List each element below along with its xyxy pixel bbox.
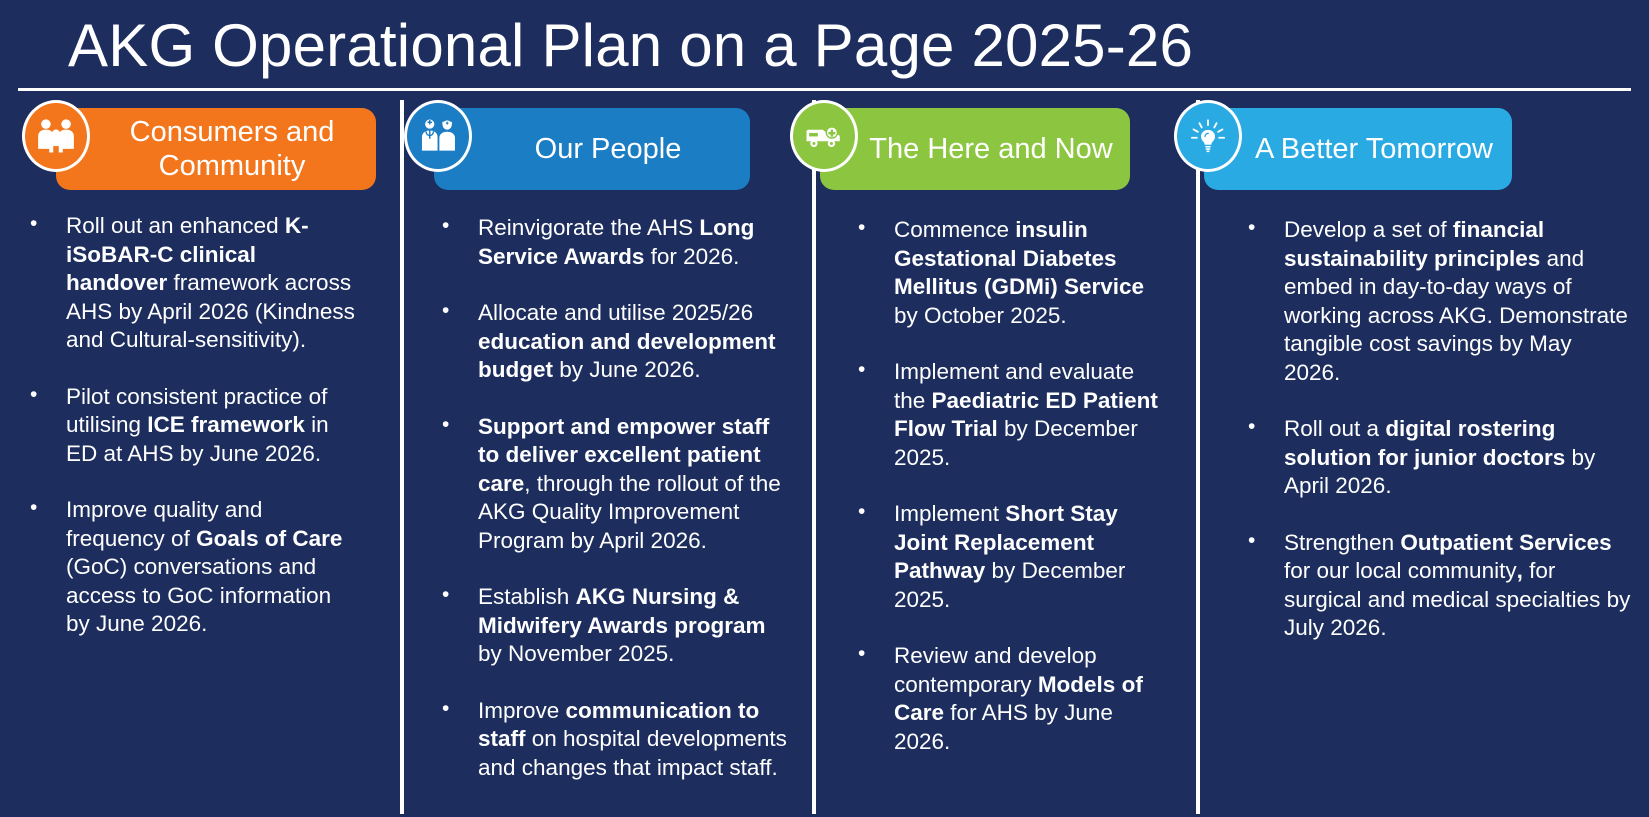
- list-item: Reinvigorate the AHS Long Service Awards…: [420, 214, 788, 271]
- column-a-better-tomorrow: A Better Tomorrow: [1204, 100, 1644, 817]
- pill-row: Our People: [408, 100, 808, 198]
- pill-label: The Here and Now: [869, 132, 1112, 166]
- title-divider: [18, 88, 1631, 91]
- column-our-people: Our People Reinvigorate the AHS: [408, 100, 808, 817]
- pill-row: Consumers and Community: [8, 100, 398, 198]
- bullet-list-consumers-and-community: Roll out an enhanced K-iSoBAR-C clinical…: [8, 212, 398, 639]
- pill-consumers-and-community[interactable]: Consumers and Community: [56, 108, 376, 190]
- column-divider-1: [400, 100, 404, 814]
- list-item: Review and develop contemporary Models o…: [836, 642, 1168, 756]
- family-group-icon: [22, 100, 90, 172]
- pill-label: Consumers and Community: [102, 115, 362, 183]
- pill-row: A Better Tomorrow: [1204, 100, 1644, 198]
- column-divider-2: [812, 100, 816, 814]
- pill-row: The Here and Now: [820, 100, 1196, 198]
- list-item: Improve communication to staff on hospit…: [420, 697, 788, 783]
- page-header: AKG Operational Plan on a Page 2025-26: [0, 0, 1649, 96]
- list-item: Support and empower staff to deliver exc…: [420, 413, 788, 556]
- list-item: Implement and evaluate the Paediatric ED…: [836, 358, 1168, 472]
- list-item: Establish AKG Nursing & Midwifery Awards…: [420, 583, 788, 669]
- list-item: Roll out an enhanced K-iSoBAR-C clinical…: [8, 212, 360, 355]
- pill-label: Our People: [535, 132, 682, 166]
- list-item: Develop a set of financial sustainabilit…: [1226, 216, 1632, 387]
- list-item: Roll out a digital rostering solution fo…: [1226, 415, 1632, 501]
- list-item: Strengthen Outpatient Services for our l…: [1226, 529, 1632, 643]
- bullet-list-our-people: Reinvigorate the AHS Long Service Awards…: [408, 214, 808, 782]
- column-the-here-and-now: The Here and Now Commence insulin Gestat…: [820, 100, 1196, 817]
- doctor-nurse-icon: [404, 100, 472, 172]
- lightbulb-icon: [1174, 100, 1242, 172]
- list-item: Commence insulin Gestational Diabetes Me…: [836, 216, 1168, 330]
- pill-our-people[interactable]: Our People: [434, 108, 750, 190]
- pill-the-here-and-now[interactable]: The Here and Now: [820, 108, 1130, 190]
- column-divider-3: [1196, 100, 1200, 814]
- bullet-list-a-better-tomorrow: Develop a set of financial sustainabilit…: [1204, 216, 1644, 643]
- list-item: Allocate and utilise 2025/26 education a…: [420, 299, 788, 385]
- list-item: Improve quality and frequency of Goals o…: [8, 496, 360, 639]
- bullet-list-the-here-and-now: Commence insulin Gestational Diabetes Me…: [820, 216, 1196, 756]
- pill-a-better-tomorrow[interactable]: A Better Tomorrow: [1204, 108, 1512, 190]
- pill-label: A Better Tomorrow: [1255, 132, 1493, 166]
- page-title: AKG Operational Plan on a Page 2025-26: [68, 6, 1193, 86]
- ambulance-icon: [790, 100, 858, 172]
- list-item: Pilot consistent practice of utilising I…: [8, 383, 360, 469]
- list-item: Implement Short Stay Joint Replacement P…: [836, 500, 1168, 614]
- operational-plan-page: AKG Operational Plan on a Page 2025-26 C…: [0, 0, 1649, 817]
- column-consumers-and-community: Consumers and Community Roll out an enha…: [8, 100, 398, 817]
